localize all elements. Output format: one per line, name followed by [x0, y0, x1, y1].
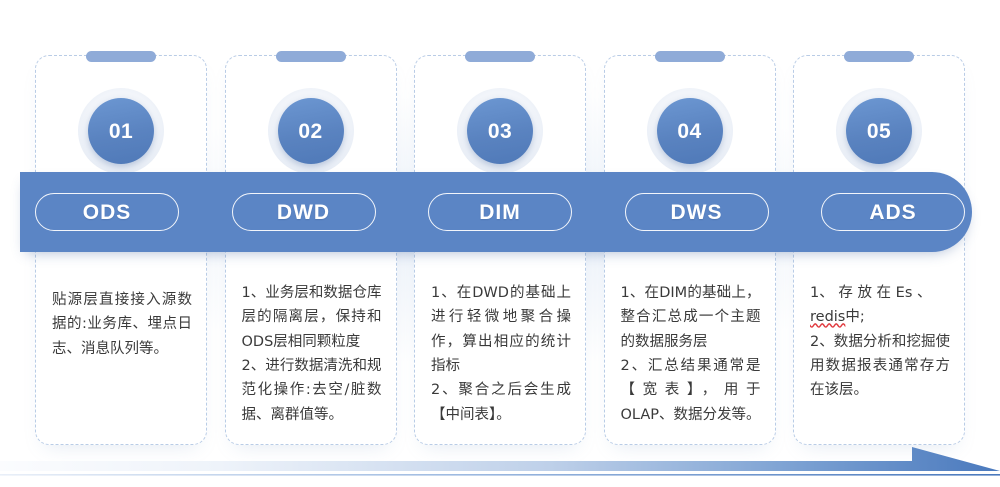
card-top-tab: [86, 51, 156, 62]
layer-pill-label: DIM: [479, 202, 521, 223]
card-top-tab: [655, 51, 725, 62]
step-number-label: 03: [488, 121, 512, 142]
layer-description: 1、业务层和数据仓库层的隔离层，保持和ODS层相同颗粒度 2、进行数据清洗和规范…: [242, 281, 382, 427]
layer-description: 贴源层直接接入源数据的:业务库、埋点日志、消息队列等。: [52, 288, 192, 361]
layer-pill-label: DWS: [671, 202, 723, 223]
layer-description: 1、在DWD的基础上进行轻微地聚合操作，算出相应的统计指标 2、聚合之后会生成【…: [431, 281, 571, 427]
step-circle: 01: [88, 98, 154, 164]
layer-description: 1、 存 放 在 Es 、 redis中; 2、数据分析和挖掘使用数据报表通常存…: [810, 281, 950, 403]
step-number-badge: 01: [78, 88, 164, 174]
step-number-badge: 05: [836, 88, 922, 174]
misspelled-word: redis: [810, 309, 845, 325]
card-top-tab: [844, 51, 914, 62]
layer-description: 1、在DIM的基础上，整合汇总成一个主题的数据服务层 2、汇总结果通常是【宽表】…: [621, 281, 761, 427]
step-number-badge: 04: [647, 88, 733, 174]
layer-pill-list: ODS DWD DIM DWS ADS: [35, 172, 965, 252]
step-circle: 02: [278, 98, 344, 164]
step-circle: 04: [657, 98, 723, 164]
step-circle: 03: [467, 98, 533, 164]
flow-arrow-right-icon: [0, 447, 1000, 481]
card-top-tab: [276, 51, 346, 62]
layer-pill-dws[interactable]: DWS: [625, 193, 769, 231]
step-number-label: 04: [677, 121, 701, 142]
step-number-label: 01: [109, 121, 133, 142]
layer-pill-dim[interactable]: DIM: [428, 193, 572, 231]
layer-pill-ads[interactable]: ADS: [821, 193, 965, 231]
layer-pill-ods[interactable]: ODS: [35, 193, 179, 231]
layer-pill-label: DWD: [277, 202, 330, 223]
step-number-badge: 03: [457, 88, 543, 174]
layer-pill-label: ODS: [83, 202, 132, 223]
layer-banner: ODS DWD DIM DWS ADS: [20, 172, 972, 252]
step-number-badge: 02: [268, 88, 354, 174]
description-part-prefix: 1、 存 放 在 Es 、: [810, 285, 932, 301]
step-number-label: 05: [867, 121, 891, 142]
step-number-label: 02: [298, 121, 322, 142]
layer-pill-label: ADS: [869, 202, 916, 223]
step-circle: 05: [846, 98, 912, 164]
layer-pill-dwd[interactable]: DWD: [232, 193, 376, 231]
infographic-stage: 01 贴源层直接接入源数据的:业务库、埋点日志、消息队列等。 02 1、业务层和…: [0, 0, 1000, 487]
card-top-tab: [465, 51, 535, 62]
